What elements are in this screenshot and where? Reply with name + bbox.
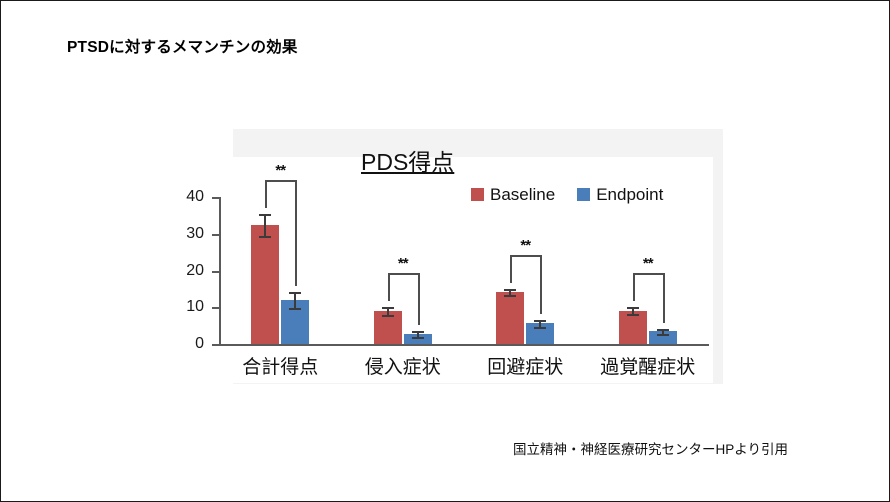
bar-baseline [496,292,524,344]
significance-bracket-arm-right [663,273,665,322]
error-bar-cap-bottom [627,314,639,316]
category-label: 合計得点 [220,358,340,377]
significance-stars: ** [505,238,545,253]
page-title: PTSDに対するメマンチンの効果 [67,35,298,57]
bar-baseline [251,225,279,344]
category-label: 回避症状 [465,358,585,377]
error-bar-cap-top [412,331,424,333]
category-label: 侵入症状 [343,358,463,377]
error-bar-cap-bottom [412,337,424,339]
error-bar-cap-top [534,320,546,322]
y-axis-tick [212,307,219,309]
error-bar-cap-bottom [534,327,546,329]
y-axis-tick [212,234,219,236]
error-bar-cap-top [657,329,669,331]
significance-bracket-arm-left [265,180,267,208]
significance-bracket-arm-left [388,273,390,301]
y-axis-tick [212,344,219,346]
category-label: 過覚醒症状 [588,358,708,377]
chart-plot-area: 010203040合計得点**侵入症状**回避症状**過覚醒症状** [161,113,741,398]
error-bar-cap-top [259,214,271,216]
y-axis-line [219,197,221,345]
error-bar-cap-bottom [657,334,669,336]
y-tick-label: 40 [178,189,204,205]
significance-bracket-rail [510,255,540,257]
significance-bracket-rail [265,180,295,182]
y-tick-label: 0 [178,336,204,352]
y-axis-tick [212,197,219,199]
error-bar-cap-bottom [289,308,301,310]
significance-stars: ** [628,256,668,271]
error-bar-cap-bottom [504,295,516,297]
error-bar-cap-top [382,307,394,309]
error-bar-stem [264,214,266,236]
significance-stars: ** [383,256,423,271]
significance-bracket-arm-right [540,255,542,314]
source-citation: 国立精神・神経医療研究センターHPより引用 [513,438,788,458]
significance-stars: ** [260,163,300,178]
significance-bracket-arm-right [295,180,297,286]
slide-canvas: PTSDに対するメマンチンの効果 PDS得点 Baseline Endpoint… [0,0,890,502]
error-bar-stem [294,292,296,307]
significance-bracket-rail [633,273,663,275]
error-bar-cap-bottom [259,236,271,238]
error-bar-cap-top [289,292,301,294]
y-tick-label: 30 [178,226,204,242]
error-bar-cap-top [627,307,639,309]
y-tick-label: 20 [178,263,204,279]
y-axis-tick [212,271,219,273]
error-bar-cap-top [504,289,516,291]
significance-bracket-rail [388,273,418,275]
x-axis-line [219,344,709,346]
error-bar-cap-bottom [382,315,394,317]
y-tick-label: 10 [178,299,204,315]
significance-bracket-arm-left [633,273,635,301]
significance-bracket-arm-right [418,273,420,326]
significance-bracket-arm-left [510,255,512,283]
chart-figure: PDS得点 Baseline Endpoint 010203040合計得点**侵… [161,113,741,398]
